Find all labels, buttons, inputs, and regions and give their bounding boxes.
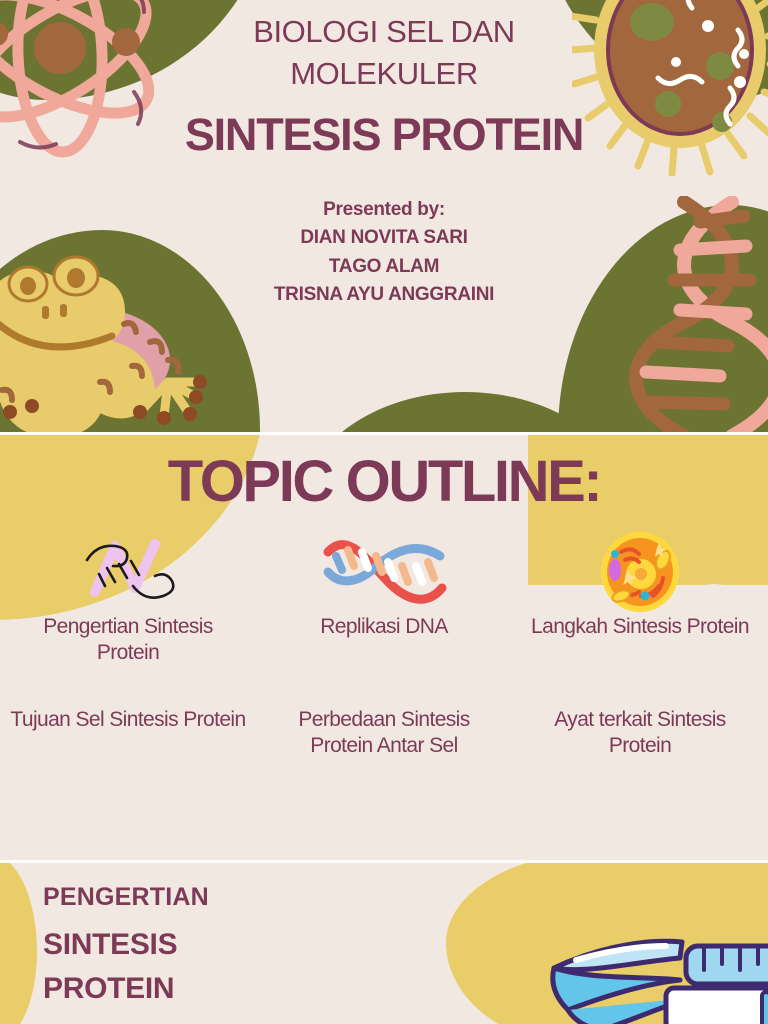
- topic-item-ayat[interactable]: Ayat terkait Sintesis Protein: [512, 707, 768, 758]
- pengertian-heading-block: PENGERTIAN SINTESIS PROTEIN: [43, 883, 209, 1006]
- animal-cell-icon: [512, 530, 768, 614]
- slide-title: BIOLOGI SEL DAN MOLEKULER SINTESIS PROTE…: [0, 0, 768, 432]
- topic-item-replikasi[interactable]: Replikasi DNA: [256, 530, 512, 665]
- presenters-block: Presented by: DIAN NOVITA SARI TAGO ALAM…: [0, 196, 768, 309]
- topic-label-replikasi: Replikasi DNA: [256, 614, 512, 640]
- yellow-blob-right: [446, 863, 768, 1024]
- topic-item-langkah[interactable]: Langkah Sintesis Protein: [512, 530, 768, 665]
- course-subtitle: BIOLOGI SEL DAN MOLEKULER: [0, 11, 768, 94]
- pengertian-heading-line2: SINTESIS: [43, 928, 209, 962]
- dna-helix-icon: [256, 530, 512, 614]
- pengertian-heading-line3: PROTEIN: [43, 972, 209, 1006]
- topic-label-ayat: Ayat terkait Sintesis Protein: [512, 707, 768, 758]
- topic-item-tujuan[interactable]: Tujuan Sel Sintesis Protein: [0, 707, 256, 758]
- course-subtitle-line1: BIOLOGI SEL DAN: [0, 11, 768, 53]
- topic-item-pengertian[interactable]: Pengertian Sintesis Protein: [0, 530, 256, 665]
- course-subtitle-line2: MOLEKULER: [0, 53, 768, 95]
- title-text-block: BIOLOGI SEL DAN MOLEKULER SINTESIS PROTE…: [0, 0, 768, 309]
- yellow-blob-left: [0, 863, 37, 1024]
- topic-grid: Pengertian Sintesis Protein: [0, 530, 768, 758]
- slide-pengertian: PENGERTIAN SINTESIS PROTEIN: [0, 863, 768, 1024]
- topic-outline-heading: TOPIC OUTLINE:: [0, 448, 768, 515]
- topic-label-pengertian: Pengertian Sintesis Protein: [0, 614, 256, 665]
- presenter-name-1: DIAN NOVITA SARI: [0, 224, 768, 252]
- presenter-name-2: TAGO ALAM: [0, 253, 768, 281]
- presented-by-label: Presented by:: [0, 196, 768, 224]
- topic-row-2: Tujuan Sel Sintesis Protein Perbedaan Si…: [0, 707, 768, 758]
- topic-label-tujuan: Tujuan Sel Sintesis Protein: [0, 707, 256, 733]
- topic-label-perbedaan: Perbedaan Sintesis Protein Antar Sel: [256, 707, 512, 758]
- slide-topic-outline: TOPIC OUTLINE:: [0, 435, 768, 860]
- topic-label-langkah: Langkah Sintesis Protein: [512, 614, 768, 640]
- pengertian-heading-line1: PENGERTIAN: [43, 883, 209, 912]
- protein-squiggle-icon: [0, 530, 256, 614]
- presenter-name-3: TRISNA AYU ANGGRAINI: [0, 281, 768, 309]
- topic-item-perbedaan[interactable]: Perbedaan Sintesis Protein Antar Sel: [256, 707, 512, 758]
- presentation-page: BIOLOGI SEL DAN MOLEKULER SINTESIS PROTE…: [0, 0, 768, 1024]
- main-title: SINTESIS PROTEIN: [0, 109, 768, 161]
- topic-row-1: Pengertian Sintesis Protein: [0, 530, 768, 665]
